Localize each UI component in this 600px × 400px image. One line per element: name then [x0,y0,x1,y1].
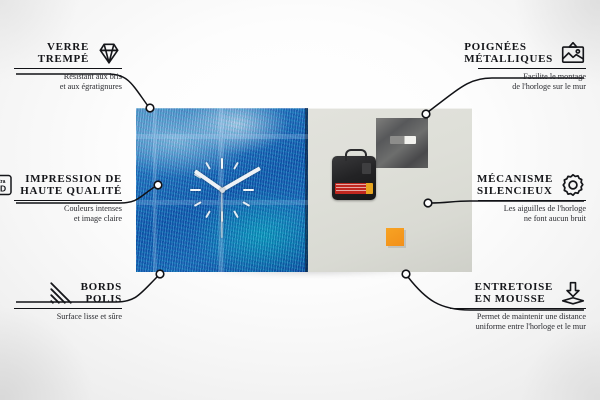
callout-impression-haute-qualite: ultra HD IMPRESSION DE HAUTE QUALITÉ Cou… [14,172,122,224]
movement-knob [362,163,371,174]
battery-label [336,184,366,193]
callout-rule [450,308,586,309]
callout-title: BORDS [81,281,122,294]
callout-rule [14,308,122,309]
clock-movement [332,156,376,200]
metal-hanger-plate [376,118,428,168]
foam-spacer [386,228,404,246]
clock-dial [136,108,308,272]
callout-rule [478,200,586,201]
callout-title: MÉCANISME [477,173,553,186]
callout-desc: Permet de maintenir une distance [450,312,586,322]
clock-center-pin [220,188,225,193]
callout-desc: de l'horloge sur le mur [478,82,586,92]
product-image [136,108,472,272]
callout-desc: et image claire [14,214,122,224]
movement-hanging-loop [345,149,367,161]
callout-title: POIGNÉES [464,41,553,54]
callout-desc: ne font aucun bruit [478,214,586,224]
callout-title: HAUTE QUALITÉ [20,185,122,198]
callout-entretoise-en-mousse: ENTRETOISE EN MOUSSE Permet de maintenir… [450,280,586,332]
clock-back-panel [308,108,472,272]
callout-rule [14,68,122,69]
diamond-icon [96,40,122,66]
callout-desc: Les aiguilles de l'horloge [478,204,586,214]
callout-title: POLIS [81,293,122,306]
clock-face-panel [136,108,308,272]
callout-poignees-metalliques: POIGNÉES MÉTALLIQUES Facilite le montage… [478,40,586,92]
callout-title: ENTRETOISE [475,281,553,294]
svg-text:HD: HD [0,184,6,194]
callout-title: VERRE [38,41,89,54]
callout-title: TREMPÉ [38,53,89,66]
callout-mecanisme-silencieux: MÉCANISME SILENCIEUX Les aiguilles de l'… [478,172,586,224]
callout-title: EN MOUSSE [475,293,553,306]
infographic-canvas: VERRE TREMPÉ Résistant aux bris et aux é… [0,0,600,400]
callout-verre-trempe: VERRE TREMPÉ Résistant aux bris et aux é… [14,40,122,92]
ultra-hd-icon: ultra HD [0,172,13,198]
arrow-down-layer-icon [560,280,586,306]
callout-desc: Couleurs intenses [14,204,122,214]
callout-desc: Résistant aux bris [14,72,122,82]
diagonal-lines-icon [48,280,74,306]
callout-rule [478,68,586,69]
callout-title: MÉTALLIQUES [464,53,553,66]
callout-desc: Facilite le montage [478,72,586,82]
callout-desc: uniforme entre l'horloge et le mur [450,322,586,332]
picture-frame-icon [560,40,586,66]
callout-title: SILENCIEUX [477,185,553,198]
callout-desc: Surface lisse et sûre [14,312,122,322]
gear-icon [560,172,586,198]
callout-rule [14,200,122,201]
callout-desc: et aux égratignures [14,82,122,92]
callout-title: IMPRESSION DE [20,173,122,186]
callout-bords-polis: BORDS POLIS Surface lisse et sûre [14,280,122,322]
hanger-slot [390,136,416,144]
